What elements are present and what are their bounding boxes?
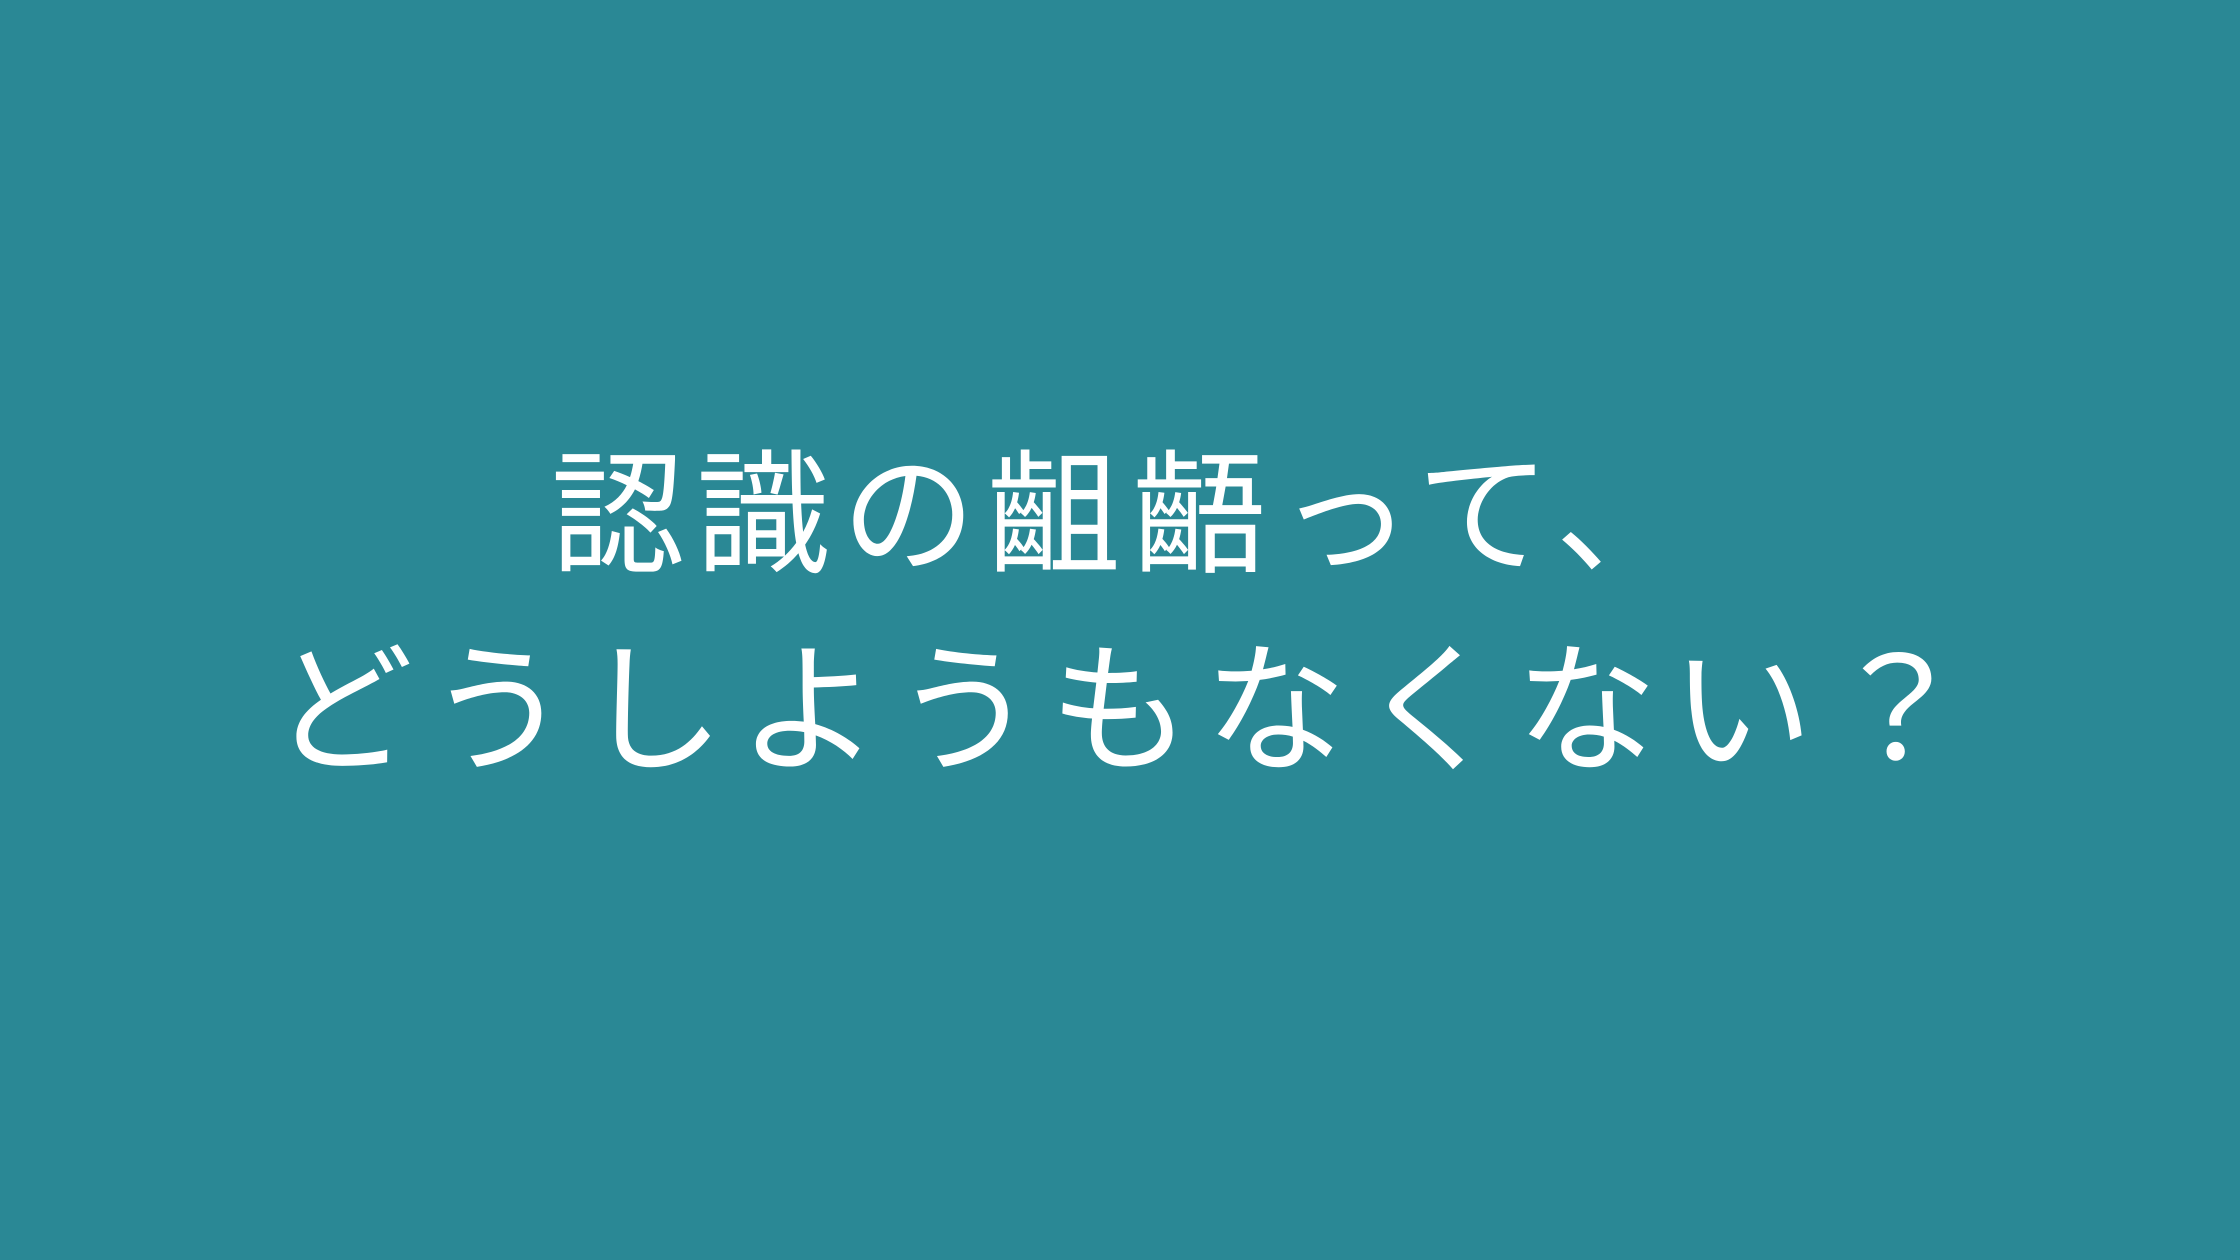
slide-canvas: 認識の齟齬って、 どうしようもなくない？ xyxy=(0,0,2240,1260)
headline-block: 認識の齟齬って、 どうしようもなくない？ xyxy=(258,422,1982,838)
headline-line-1: 認識の齟齬って、 xyxy=(539,422,1700,612)
headline-line-2: どうしようもなくない？ xyxy=(258,612,1982,814)
